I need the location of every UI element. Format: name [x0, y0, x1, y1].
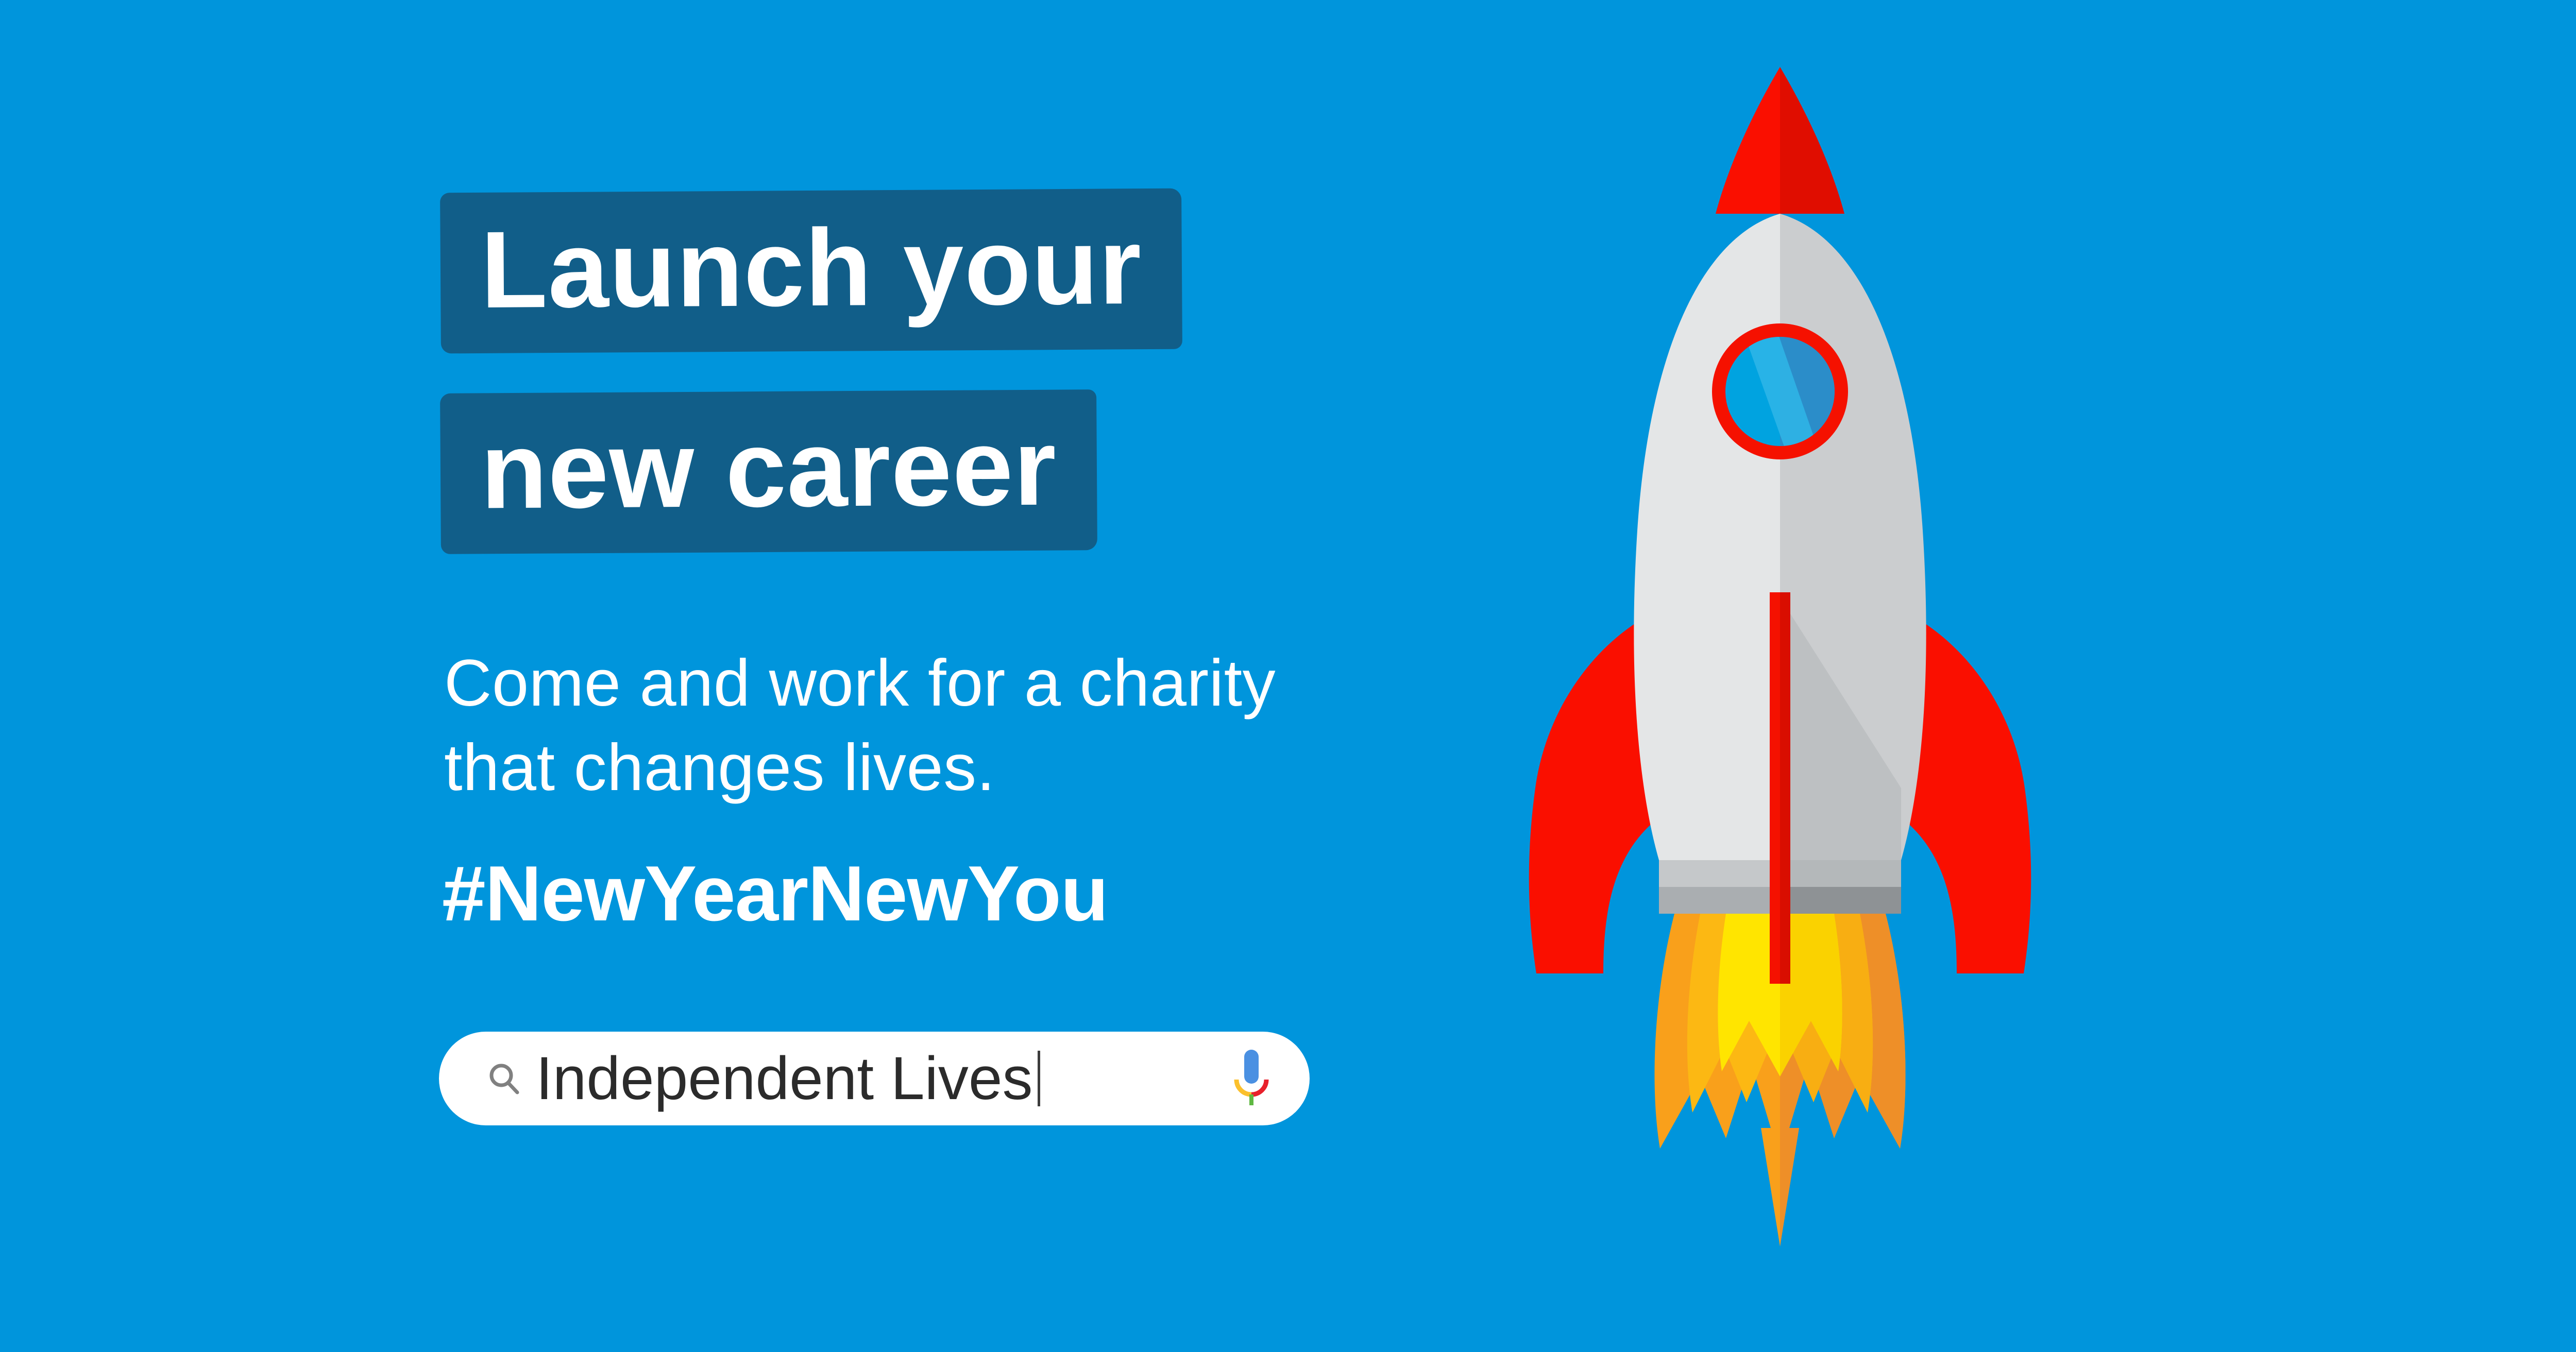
rocket-illustration	[1458, 67, 2102, 1262]
subtitle: Come and work for a charity that changes…	[444, 641, 1351, 810]
subtitle-line-1: Come and work for a charity	[444, 641, 1351, 726]
search-input-value: Independent Lives	[536, 1043, 1032, 1114]
rocket-nose-right	[1780, 67, 1844, 214]
flame-tip-shade	[1780, 1128, 1799, 1246]
subtitle-line-2: that changes lives.	[444, 726, 1351, 810]
rocket-nozzle-upper-shade	[1780, 860, 1901, 887]
headline-line-1: Launch your	[440, 191, 1182, 351]
headline-line-2: new career	[440, 391, 1097, 552]
promotional-banner: Launch your new career Come and work for…	[0, 0, 2576, 1352]
headline-highlight-box-2: new career	[440, 389, 1097, 554]
search-icon	[488, 1063, 520, 1094]
rocket-nose-left	[1716, 67, 1780, 214]
search-input[interactable]: Independent Lives	[536, 1043, 1216, 1114]
rocket-center-stripe-shade	[1780, 592, 1790, 984]
text-cursor-icon	[1038, 1051, 1040, 1106]
headline-highlight-box-1: Launch your	[440, 189, 1182, 354]
microphone-icon[interactable]	[1229, 1048, 1274, 1109]
text-column: Launch your new career Come and work for…	[0, 0, 1391, 1352]
rocket-nozzle-lower-shade	[1780, 887, 1901, 914]
rocket-body-left	[1634, 214, 1780, 860]
search-bar[interactable]: Independent Lives	[439, 1032, 1310, 1125]
campaign-hashtag: #NewYearNewYou	[442, 849, 1108, 939]
